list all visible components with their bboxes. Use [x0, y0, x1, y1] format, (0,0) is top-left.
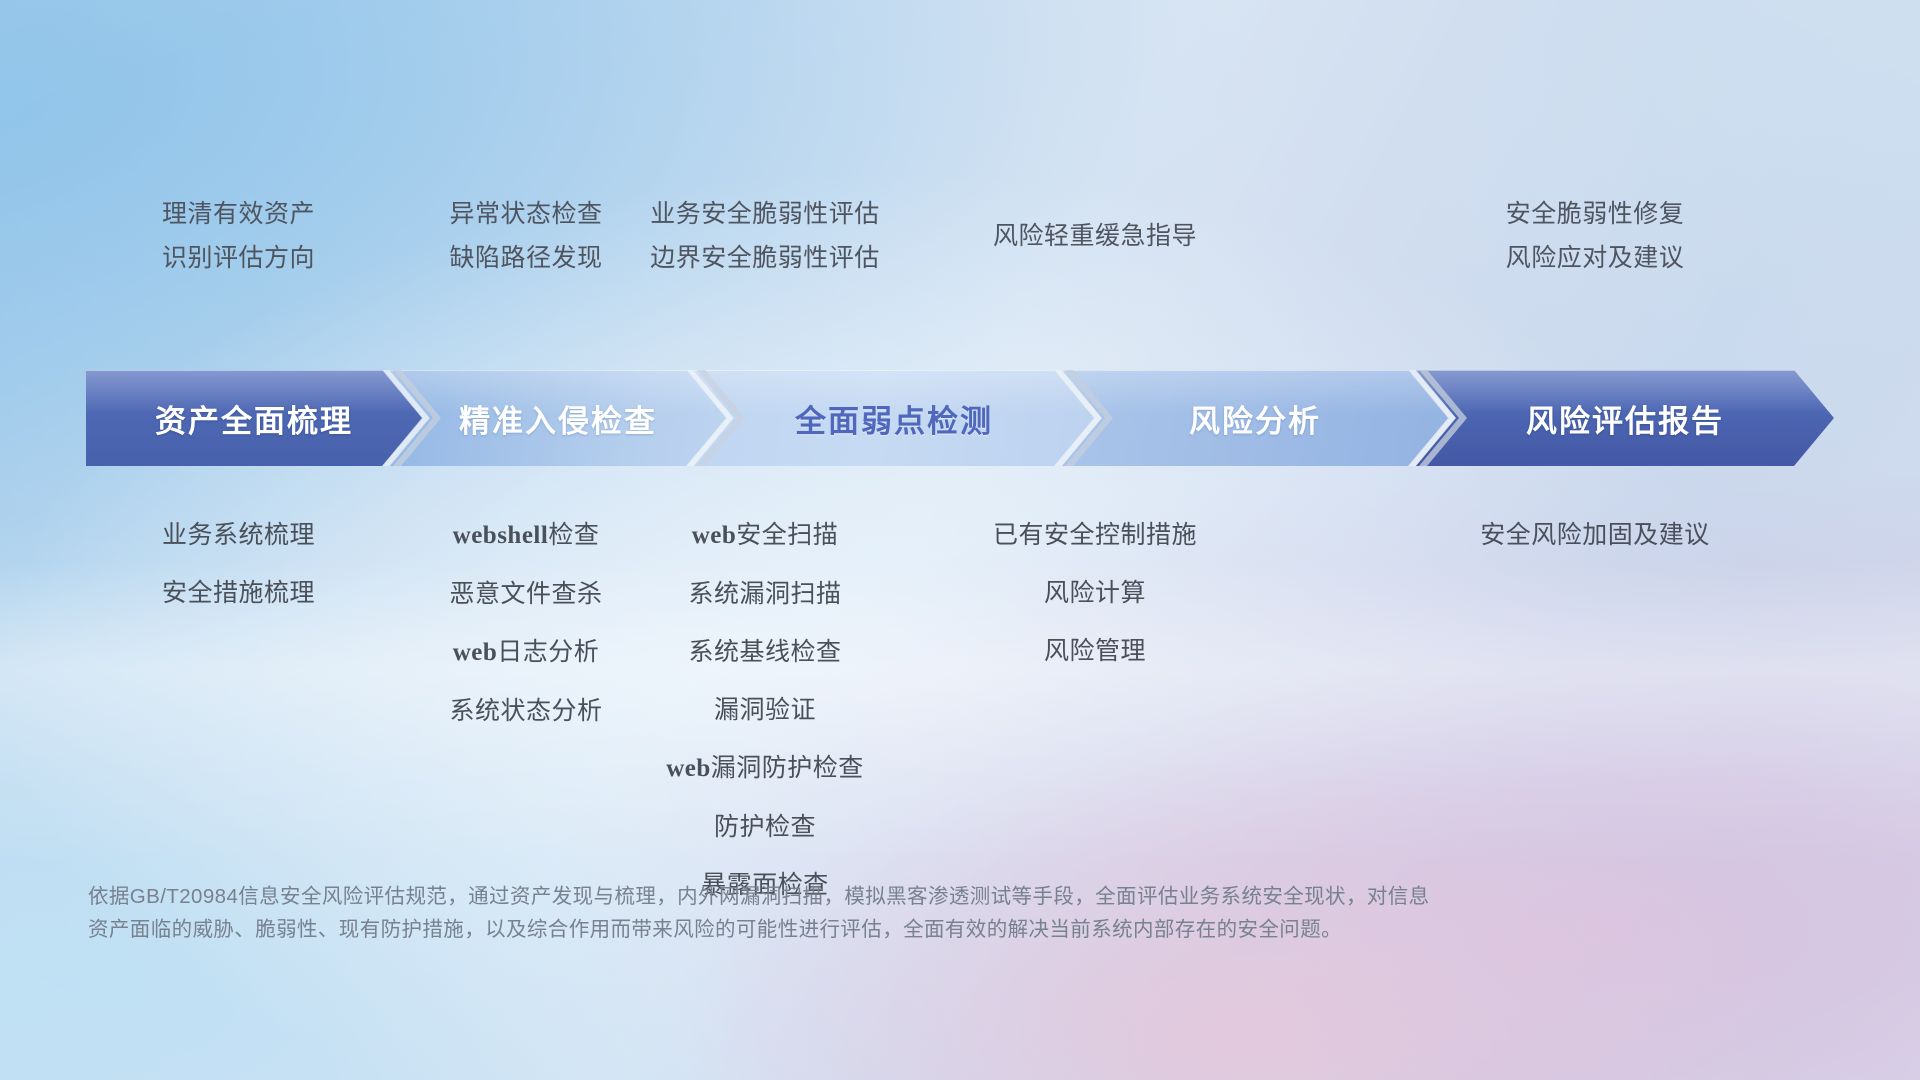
list-item: 理清有效资产: [86, 192, 391, 236]
chevron-stage-asset-inventory[interactable]: 资产全面梳理: [86, 370, 422, 466]
footer-line-1: 依据GB/T20984信息安全风险评估规范，通过资产发现与梳理，内外网漏洞扫描，…: [88, 880, 1598, 913]
list-item: 风险管理: [930, 631, 1260, 671]
chevron-separator-2: [687, 370, 745, 466]
chevron-separator-1: [383, 370, 441, 466]
chevron-separator-3: [1055, 370, 1113, 466]
list-item: 风险轻重缓急指导: [930, 214, 1260, 258]
list-item: 防护检查: [620, 807, 910, 847]
chevron-stage-risk-analysis[interactable]: 风险分析: [1062, 370, 1448, 466]
list-item: 安全风险加固及建议: [1395, 515, 1795, 555]
list-item: web漏洞防护检查: [620, 748, 910, 789]
footer-description: 依据GB/T20984信息安全风险评估规范，通过资产发现与梳理，内外网漏洞扫描，…: [88, 880, 1598, 946]
chevron-separator-4: [1409, 370, 1467, 466]
list-item: 识别评估方向: [86, 236, 391, 280]
stage-bottom-list-1: 业务系统梳理 安全措施梳理: [86, 515, 391, 631]
chevron-label: 资产全面梳理: [155, 396, 353, 441]
chevron-label: 精准入侵检查: [459, 396, 657, 441]
stage-top-list-1: 理清有效资产 识别评估方向: [86, 192, 391, 280]
list-item: 漏洞验证: [620, 690, 910, 730]
list-item: 边界安全脆弱性评估: [620, 236, 910, 280]
list-item: 系统基线检查: [620, 632, 910, 672]
stage-top-list-5: 安全脆弱性修复 风险应对及建议: [1395, 192, 1795, 280]
chevron-label: 全面弱点检测: [795, 396, 993, 441]
stage-bottom-list-3: web安全扫描 系统漏洞扫描 系统基线检查 漏洞验证 web漏洞防护检查 防护检…: [620, 515, 910, 923]
list-item: 安全措施梳理: [86, 573, 391, 613]
list-item: 系统漏洞扫描: [620, 574, 910, 614]
chevron-stage-weakness-detection[interactable]: 全面弱点检测: [694, 370, 1094, 466]
list-item: 业务安全脆弱性评估: [620, 192, 910, 236]
stage-top-list-3: 业务安全脆弱性评估 边界安全脆弱性评估: [620, 192, 910, 280]
list-item: 风险应对及建议: [1395, 236, 1795, 280]
list-item: 风险计算: [930, 573, 1260, 613]
stage-bottom-list-5: 安全风险加固及建议: [1395, 515, 1795, 573]
footer-line-2: 资产面临的威胁、脆弱性、现有防护措施，以及综合作用而带来风险的可能性进行评估，全…: [88, 913, 1598, 946]
list-item: web安全扫描: [620, 515, 910, 556]
chevron-label: 风险分析: [1189, 396, 1321, 441]
stage-bottom-list-4: 已有安全控制措施 风险计算 风险管理: [930, 515, 1260, 689]
list-item: 业务系统梳理: [86, 515, 391, 555]
process-chevron-band: 资产全面梳理 精准入侵检查 全面弱点检测 风险分析 风险评估报告: [86, 370, 1834, 466]
chevron-stage-risk-report[interactable]: 风险评估报告: [1416, 370, 1834, 466]
list-item: 安全脆弱性修复: [1395, 192, 1795, 236]
list-item: 已有安全控制措施: [930, 515, 1260, 555]
stage-top-list-4: 风险轻重缓急指导: [930, 214, 1260, 258]
chevron-label: 风险评估报告: [1526, 396, 1724, 441]
